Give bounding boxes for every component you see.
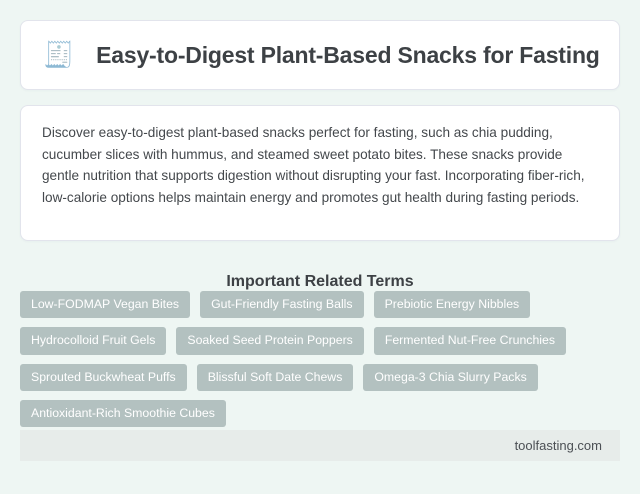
related-term-tag[interactable]: Prebiotic Energy Nibbles — [374, 291, 531, 318]
description-card: Discover easy-to-digest plant-based snac… — [20, 105, 620, 241]
related-term-tag[interactable]: Omega-3 Chia Slurry Packs — [363, 364, 537, 391]
related-term-tag[interactable]: Blissful Soft Date Chews — [197, 364, 354, 391]
related-terms-list: Low-FODMAP Vegan BitesGut-Friendly Fasti… — [20, 291, 624, 427]
title-card: 🧾 Easy-to-Digest Plant-Based Snacks for … — [20, 20, 620, 90]
related-term-tag[interactable]: Gut-Friendly Fasting Balls — [200, 291, 363, 318]
related-term-tag[interactable]: Hydrocolloid Fruit Gels — [20, 327, 166, 354]
receipt-icon: 🧾 — [43, 43, 74, 68]
related-term-tag[interactable]: Fermented Nut-Free Crunchies — [374, 327, 566, 354]
page-title: Easy-to-Digest Plant-Based Snacks for Fa… — [96, 42, 600, 69]
related-term-tag[interactable]: Sprouted Buckwheat Puffs — [20, 364, 187, 391]
footer-bar: toolfasting.com — [20, 430, 620, 461]
related-terms-heading: Important Related Terms — [0, 273, 640, 291]
related-term-tag[interactable]: Low-FODMAP Vegan Bites — [20, 291, 190, 318]
related-term-tag[interactable]: Soaked Seed Protein Poppers — [176, 327, 363, 354]
footer-site-label: toolfasting.com — [515, 438, 602, 453]
page-root: 🧾 Easy-to-Digest Plant-Based Snacks for … — [0, 0, 640, 494]
description-paragraph: Discover easy-to-digest plant-based snac… — [42, 122, 598, 208]
related-term-tag[interactable]: Antioxidant-Rich Smoothie Cubes — [20, 400, 226, 427]
